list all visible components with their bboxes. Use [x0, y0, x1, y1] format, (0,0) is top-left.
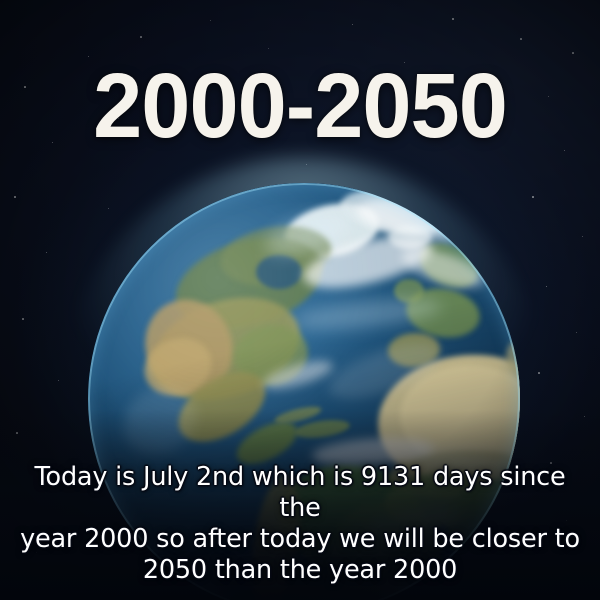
page-title: 2000-2050: [12, 58, 588, 154]
caption-text: Today is July 2nd which is 9131 days sin…: [14, 462, 586, 586]
meme-image: 2000-2050 Today is July 2nd which is 913…: [0, 0, 600, 600]
caption-line-2: year 2000 so after today we will be clos…: [14, 524, 586, 555]
caption-line-3: 2050 than the year 2000: [14, 555, 586, 586]
caption-line-1: Today is July 2nd which is 9131 days sin…: [14, 462, 586, 524]
